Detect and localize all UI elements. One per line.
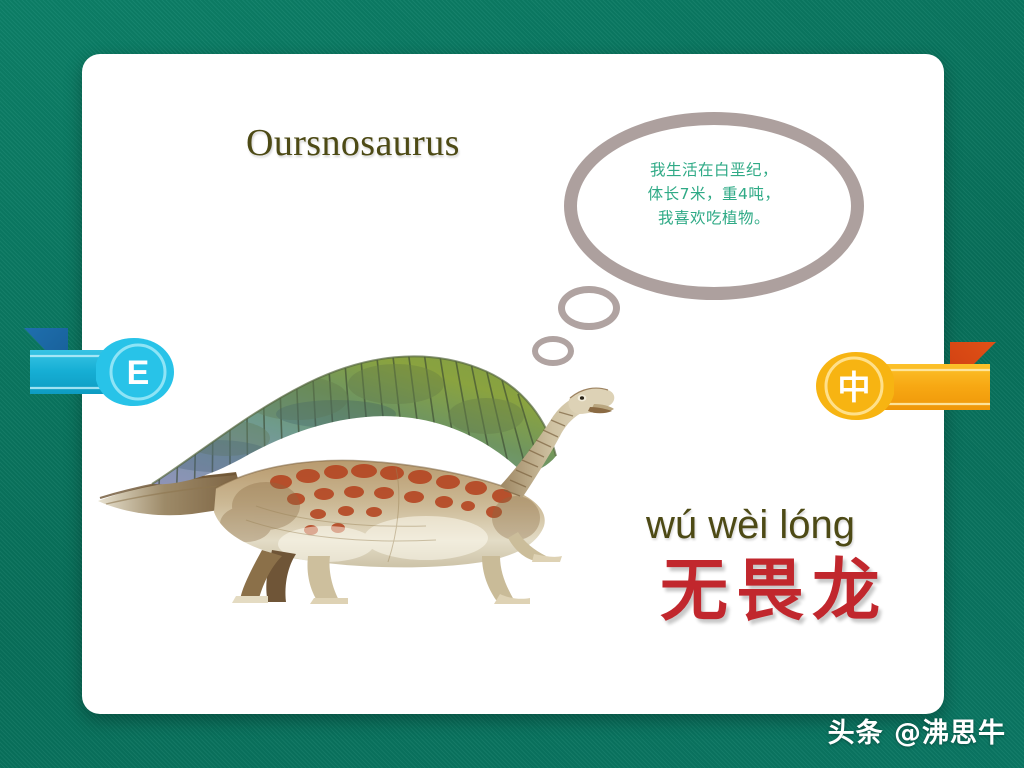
ribbon-banner-left[interactable]: E bbox=[22, 318, 182, 426]
hanzi-label: 无畏龙 bbox=[660, 558, 888, 626]
watermark: 头条 @沸思牛 bbox=[828, 711, 1006, 750]
speech-bubble-text: 我生活在白垩纪， 体长7米，重4吨， 我喜欢吃植物。 bbox=[584, 158, 844, 230]
ribbon-right-badge-label: 中 bbox=[838, 369, 871, 406]
page-title: Oursnosaurus bbox=[246, 124, 460, 162]
pinyin-label: wú wèi lóng bbox=[646, 505, 855, 545]
ribbon-left-badge-label: E bbox=[127, 354, 150, 392]
ribbon-banner-right[interactable]: 中 bbox=[800, 330, 1000, 440]
